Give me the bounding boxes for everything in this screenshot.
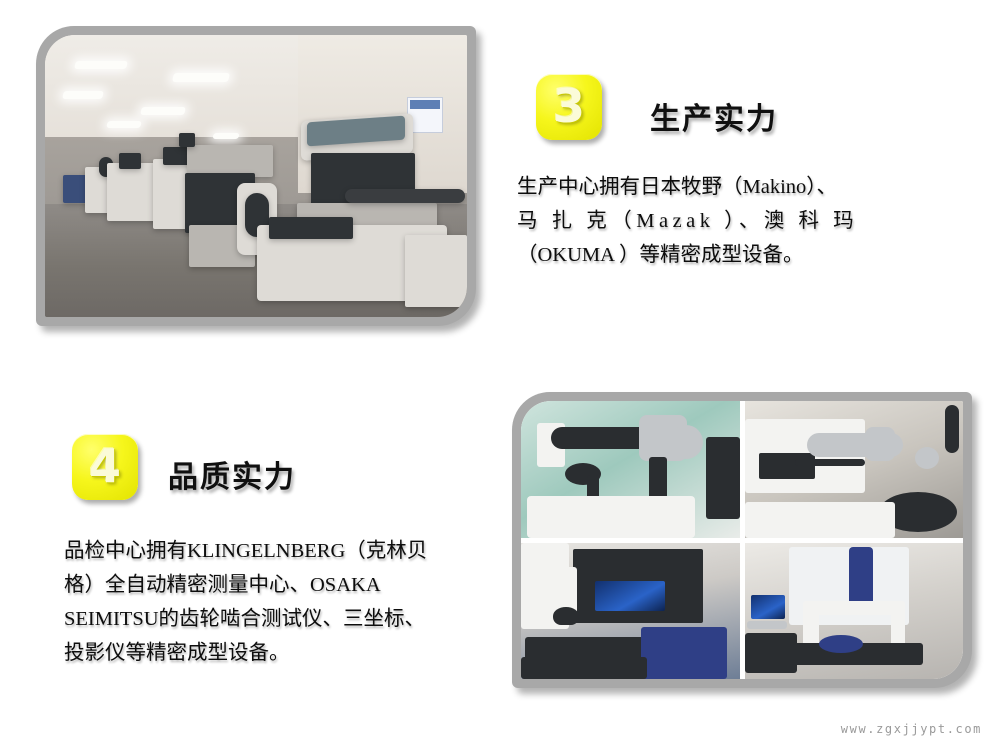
machine	[269, 217, 353, 239]
machine-table	[745, 502, 895, 538]
collage-cell-measuring-center	[745, 401, 964, 538]
control-monitor	[751, 595, 785, 619]
body-line: 生产中心拥有日本牧野（Makino）、	[517, 170, 947, 204]
cable	[945, 405, 959, 453]
quality-inspection-photo-frame	[512, 392, 972, 688]
collage-cell-projector	[521, 543, 740, 680]
production-workshop-photo-frame	[36, 26, 476, 326]
machine	[405, 235, 467, 307]
slide-canvas: 3 生产实力 生产中心拥有日本牧野（Makino）、 马 扎 克（Mazak ）…	[0, 0, 1000, 750]
body-line: 投影仪等精密成型设备。	[64, 636, 504, 670]
control-desk	[745, 633, 797, 673]
body-line: （OKUMA ）等精密成型设备。	[517, 238, 947, 272]
inspection-window	[759, 453, 815, 479]
section-title-4: 品质实力	[168, 452, 296, 496]
section-number-badge-4: 4	[72, 434, 138, 500]
machine-cabinet	[641, 627, 727, 679]
body-line: 品检中心拥有KLINGELNBERG（克林贝	[64, 534, 504, 568]
quality-inspection-collage	[521, 401, 963, 679]
collage-cell-cmm	[745, 543, 964, 680]
dark-backdrop	[706, 437, 740, 519]
body-line: SEIMITSU的齿轮啮合测试仪、三坐标、	[64, 602, 504, 636]
machine	[345, 189, 465, 203]
monitor-screen	[595, 581, 665, 611]
workshop-scene	[45, 35, 467, 317]
ceiling-lamp	[212, 133, 239, 139]
spindle-collar	[865, 427, 895, 461]
section-title-3: 生产实力	[650, 94, 778, 138]
body-line: 格）全自动精密测量中心、OSAKA	[64, 568, 504, 602]
collage-grid	[521, 401, 963, 679]
site-watermark: www.zgxjjypt.com	[841, 722, 982, 736]
ceiling-lamp	[74, 61, 128, 69]
machine	[179, 133, 195, 147]
section-body-3: 生产中心拥有日本牧野（Makino）、 马 扎 克（Mazak ）、澳 科 玛 …	[517, 170, 947, 272]
granite-base	[527, 496, 695, 538]
cmm-bridge	[805, 601, 903, 615]
ceiling-lamp	[62, 91, 104, 99]
ceiling-lamp	[140, 107, 186, 115]
base-plinth	[521, 657, 647, 679]
section-body-4: 品检中心拥有KLINGELNBERG（克林贝 格）全自动精密测量中心、OSAKA…	[64, 534, 504, 670]
cmm-z-ram	[849, 547, 873, 609]
machine	[119, 153, 141, 169]
production-workshop-photo	[45, 35, 467, 317]
cable	[795, 459, 865, 466]
workpiece-gear	[915, 447, 939, 469]
horizontal-arm	[551, 427, 651, 449]
probe-fixture	[819, 635, 863, 653]
rotary-knob	[669, 425, 703, 459]
section-number-badge-3: 3	[536, 74, 602, 140]
section-number-3: 3	[553, 83, 585, 132]
ceiling-lamp	[106, 121, 141, 128]
section-number-4: 4	[89, 443, 121, 492]
ceiling-lamp	[172, 73, 230, 82]
keyboard	[747, 621, 787, 629]
collage-cell-gear-tester	[521, 401, 740, 538]
optical-head	[553, 607, 579, 625]
body-line: 马 扎 克（Mazak ）、澳 科 玛	[517, 204, 947, 238]
